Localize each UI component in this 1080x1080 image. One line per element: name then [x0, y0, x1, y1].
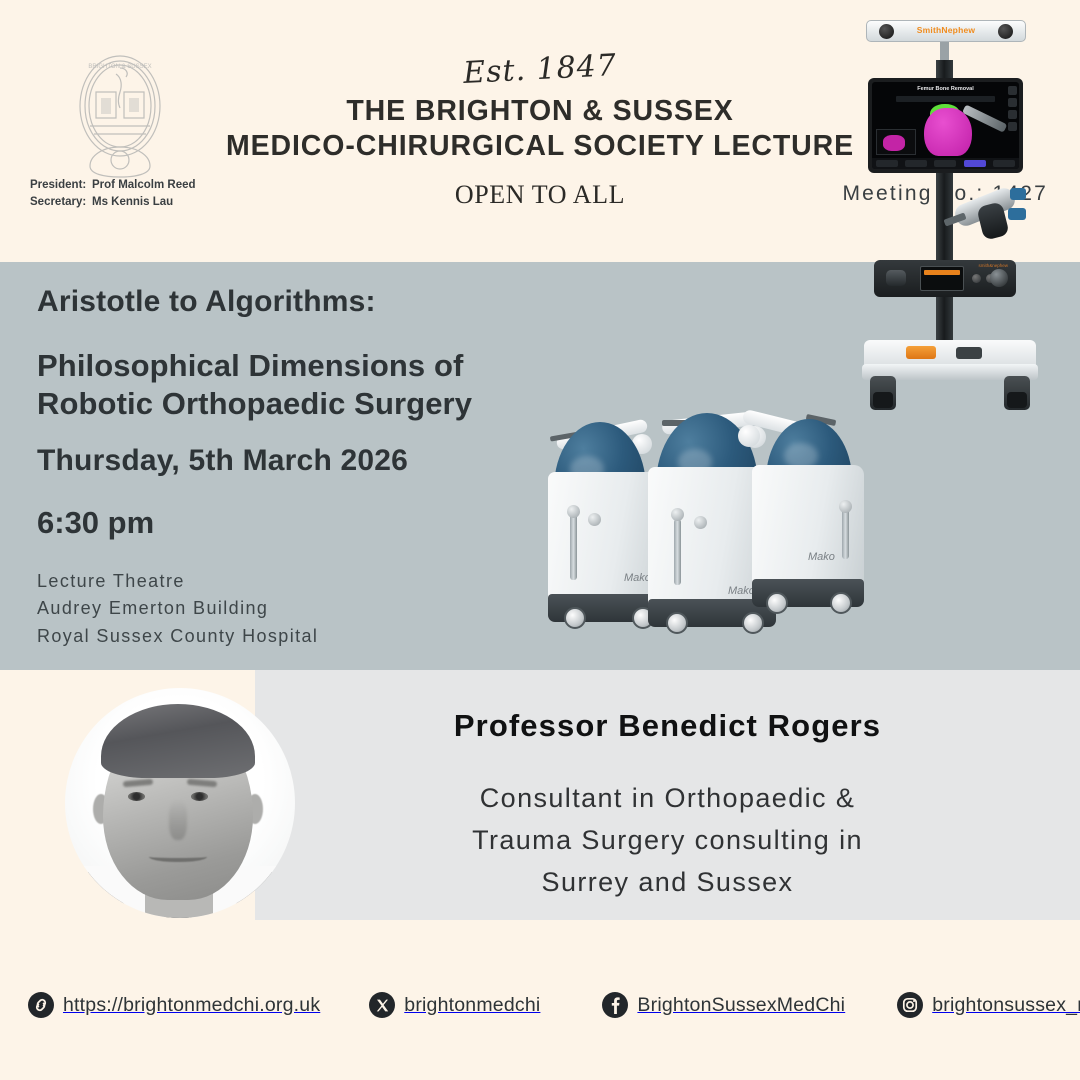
lecture-date: Thursday, 5th March 2026: [37, 444, 408, 478]
console-button: [972, 274, 981, 283]
footer-link-instagram-label: brightonsussex_medchi: [932, 994, 1080, 1017]
monitor-toolbar-button: [993, 160, 1015, 167]
monitor-side-toolbar: [1008, 86, 1017, 155]
monitor-screen-title: Femur Bone Removal: [872, 86, 1019, 92]
monitor-femur-model: [924, 108, 972, 156]
navigation-brand-label: SmithNephew: [867, 25, 1025, 35]
navigation-monitor: Femur Bone Removal: [868, 78, 1023, 173]
cart-caster-left: [870, 376, 896, 410]
facebook-icon: [602, 992, 628, 1018]
footer-link-x-label: brightonmedchi: [404, 994, 540, 1017]
monitor-toolbar-button-active: [964, 160, 986, 167]
speaker-name: Professor Benedict Rogers: [255, 708, 1080, 744]
cart-control-console: smith&nephew: [874, 260, 1016, 297]
lecture-time: 6:30 pm: [37, 505, 154, 541]
console-rotary-knob: [990, 269, 1008, 287]
footer-link-instagram[interactable]: brightonsussex_medchi: [897, 992, 1080, 1018]
navigation-camera-bar: SmithNephew: [866, 20, 1026, 42]
monitor-toolbar-button: [905, 160, 927, 167]
footer-link-website[interactable]: https://brightonmedchi.org.uk: [28, 992, 320, 1018]
x-twitter-icon: [369, 992, 395, 1018]
instagram-icon: [897, 992, 923, 1018]
robot-model-label-left: Mako: [624, 572, 651, 584]
cart-caster-right: [1004, 376, 1030, 410]
monitor-toolbar-button: [876, 160, 898, 167]
tray-dark-accessory: [956, 347, 982, 359]
lecture-venue: Lecture Theatre Audrey Emerton Building …: [37, 568, 318, 650]
robot-model-label-right: Mako: [808, 551, 835, 563]
link-icon: [28, 992, 54, 1018]
monitor-bottom-toolbar: [872, 158, 1019, 169]
social-footer: https://brightonmedchi.org.uk brightonme…: [0, 975, 1080, 1035]
robotic-handpiece: [944, 182, 1034, 240]
monitor-subtitle-bar: [896, 96, 995, 102]
speaker-role: Consultant in Orthopaedic & Trauma Surge…: [310, 778, 1025, 904]
console-display: [920, 266, 964, 291]
surgical-navigation-cart: SmithNephew Femur Bone Removal: [860, 0, 1040, 410]
lecture-title-primary: Aristotle to Algorithms:: [37, 285, 376, 319]
lecture-title-secondary: Philosophical Dimensions of Robotic Orth…: [37, 347, 472, 424]
console-dial: [886, 270, 906, 286]
footer-link-website-label: https://brightonmedchi.org.uk: [63, 994, 320, 1017]
monitor-thumbnail-view: [876, 129, 916, 155]
footer-link-facebook[interactable]: BrightonSussexMedChi: [602, 992, 845, 1018]
svg-text:BRIGHTON & SUSSEX: BRIGHTON & SUSSEX: [88, 64, 151, 70]
monitor-toolbar-button: [934, 160, 956, 167]
robot-unit-right: Mako: [752, 427, 880, 607]
console-brand-label: smith&nephew: [978, 263, 1008, 268]
footer-link-facebook-label: BrightonSussexMedChi: [637, 994, 845, 1017]
robot-model-label-center: Mako: [728, 585, 755, 597]
tray-orange-accessory: [906, 346, 936, 359]
footer-link-x[interactable]: brightonmedchi: [369, 992, 540, 1018]
